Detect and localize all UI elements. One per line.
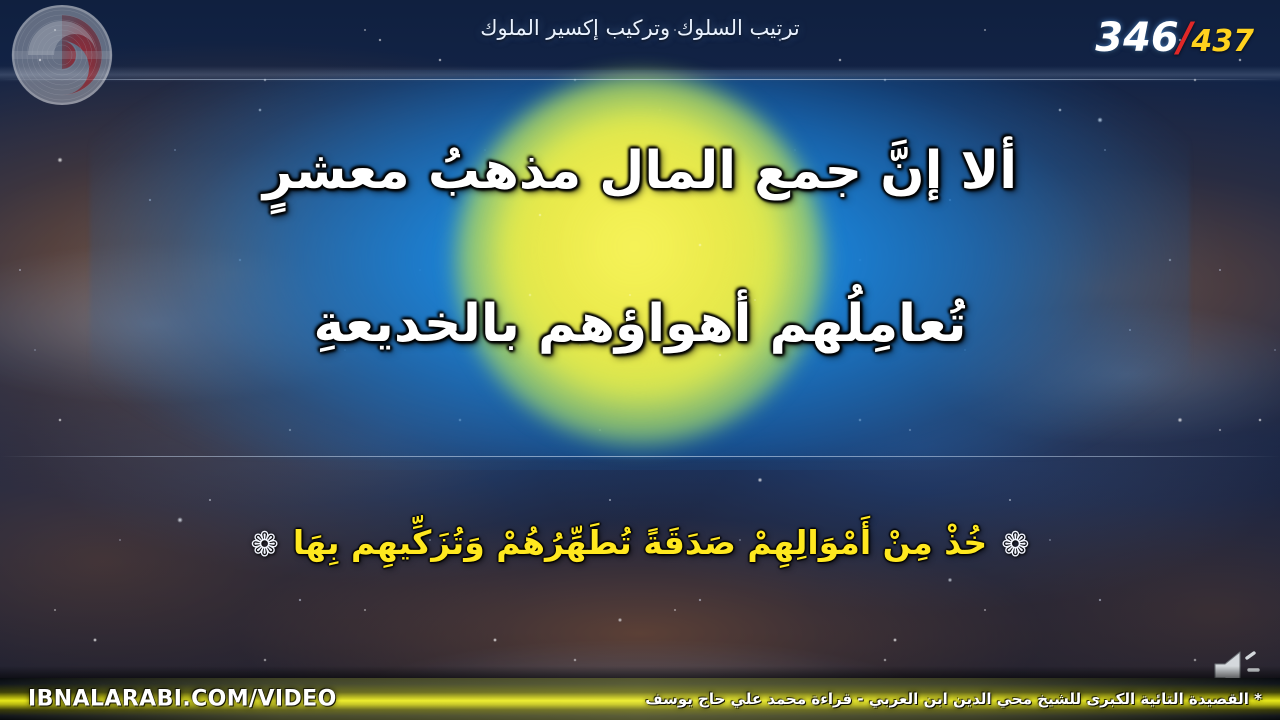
verse-text: خُذْ مِنْ أَمْوَالِهِمْ صَدَقَةً تُطَهِّ… [293,523,987,562]
bottom-bar: IBNALARABI.COM/VIDEO * القصيدة التائية ا… [0,678,1280,720]
verse-ornament-left-icon: ❁ [250,523,279,567]
slide-stage: ترتيب السلوك وتركيب إكسير الملوك 346/437… [0,0,1280,720]
page-counter: 346/437 [1095,18,1254,58]
bottom-bar-caption: * القصيدة التائية الكبرى للشيخ محي الدين… [645,690,1262,708]
poem-line-1: ألا إنَّ جمع المال مذهبُ معشرٍ [70,142,1210,202]
counter-total: 437 [1191,24,1254,59]
quran-verse: ❁خُذْ مِنْ أَمْوَالِهِمْ صَدَقَةً تُطَهِ… [60,522,1220,567]
website-url[interactable]: IBNALARABI.COM/VIDEO [28,687,337,712]
poem-line-2: تُعامِلُهم أهواؤهم بالخديعةِ [70,295,1210,355]
panel-top-divider [0,79,1280,80]
counter-current: 346 [1095,15,1179,61]
verse-ornament-right-icon: ❁ [1001,523,1030,567]
panel-bottom-divider [0,456,1280,457]
bottom-bar-shadow [0,666,1280,678]
page-title: ترتيب السلوك وتركيب إكسير الملوك [0,16,1280,40]
